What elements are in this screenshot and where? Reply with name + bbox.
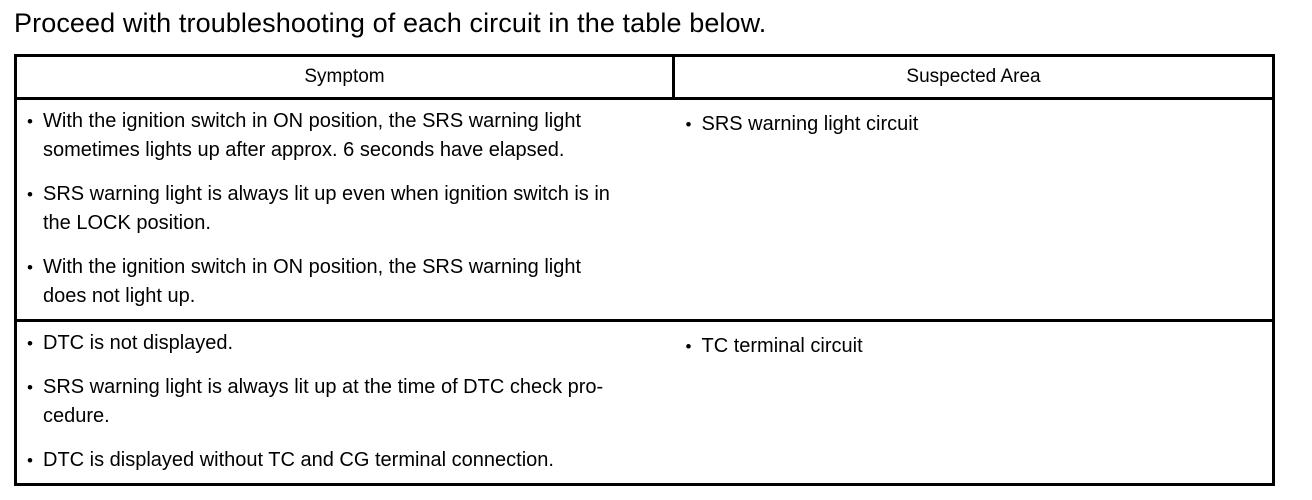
bullet-item: SRS warning light is always lit up at th… <box>27 373 664 431</box>
symptom-line: SRS warning light is always lit up even … <box>43 180 664 209</box>
symptom-text: With the ignition switch in ON position,… <box>43 253 664 311</box>
troubleshooting-table: Symptom Suspected Area With the ignition… <box>14 54 1275 486</box>
symptom-line: sometimes lights up after approx. 6 seco… <box>43 136 664 165</box>
intro-sentence: Proceed with troubleshooting of each cir… <box>14 6 766 40</box>
table-body: With the ignition switch in ON position,… <box>16 99 1274 485</box>
symptom-line: DTC is not displayed. <box>43 329 664 358</box>
bullet-item: SRS warning light circuit <box>686 110 1263 139</box>
symptom-line: SRS warning light is always lit up at th… <box>43 373 664 402</box>
document-page: Proceed with troubleshooting of each cir… <box>0 0 1312 500</box>
symptom-line: DTC is displayed without TC and CG termi… <box>43 446 664 475</box>
symptom-text: SRS warning light is always lit up at th… <box>43 373 664 431</box>
bullet-item: With the ignition switch in ON position,… <box>27 107 664 165</box>
column-header-suspected-area: Suspected Area <box>674 56 1274 99</box>
table-row: With the ignition switch in ON position,… <box>16 99 1274 174</box>
symptom-cell: DTC is displayed without TC and CG termi… <box>16 439 674 485</box>
symptom-text: DTC is not displayed. <box>43 329 664 358</box>
symptom-cell: With the ignition switch in ON position,… <box>16 99 674 174</box>
table-header-row: Symptom Suspected Area <box>16 56 1274 99</box>
column-header-symptom: Symptom <box>16 56 674 99</box>
bullet-item: With the ignition switch in ON position,… <box>27 253 664 311</box>
bullet-item: TC terminal circuit <box>686 332 1263 361</box>
suspected-area-cell: TC terminal circuit <box>674 321 1274 485</box>
table-header: Symptom Suspected Area <box>16 56 1274 99</box>
symptom-line: With the ignition switch in ON position,… <box>43 253 664 282</box>
symptom-cell: With the ignition switch in ON position,… <box>16 246 674 321</box>
symptom-cell: DTC is not displayed. <box>16 321 674 367</box>
suspected-area-text: SRS warning light circuit <box>702 110 1263 139</box>
bullet-item: SRS warning light is always lit up even … <box>27 180 664 238</box>
table-row: DTC is not displayed. TC terminal circui… <box>16 321 1274 367</box>
symptom-text: With the ignition switch in ON position,… <box>43 107 664 165</box>
symptom-line: does not light up. <box>43 282 664 311</box>
symptom-line: the LOCK position. <box>43 209 664 238</box>
symptom-cell: SRS warning light is always lit up even … <box>16 173 674 246</box>
bullet-item: DTC is not displayed. <box>27 329 664 358</box>
symptom-text: DTC is displayed without TC and CG termi… <box>43 446 664 475</box>
symptom-cell: SRS warning light is always lit up at th… <box>16 366 674 439</box>
symptom-line: With the ignition switch in ON position,… <box>43 107 664 136</box>
symptom-text: SRS warning light is always lit up even … <box>43 180 664 238</box>
troubleshooting-table-wrapper: Symptom Suspected Area With the ignition… <box>14 54 1272 486</box>
bullet-item: DTC is displayed without TC and CG termi… <box>27 446 664 475</box>
suspected-area-cell: SRS warning light circuit <box>674 99 1274 321</box>
symptom-line: cedure. <box>43 402 664 431</box>
suspected-area-text: TC terminal circuit <box>702 332 1263 361</box>
